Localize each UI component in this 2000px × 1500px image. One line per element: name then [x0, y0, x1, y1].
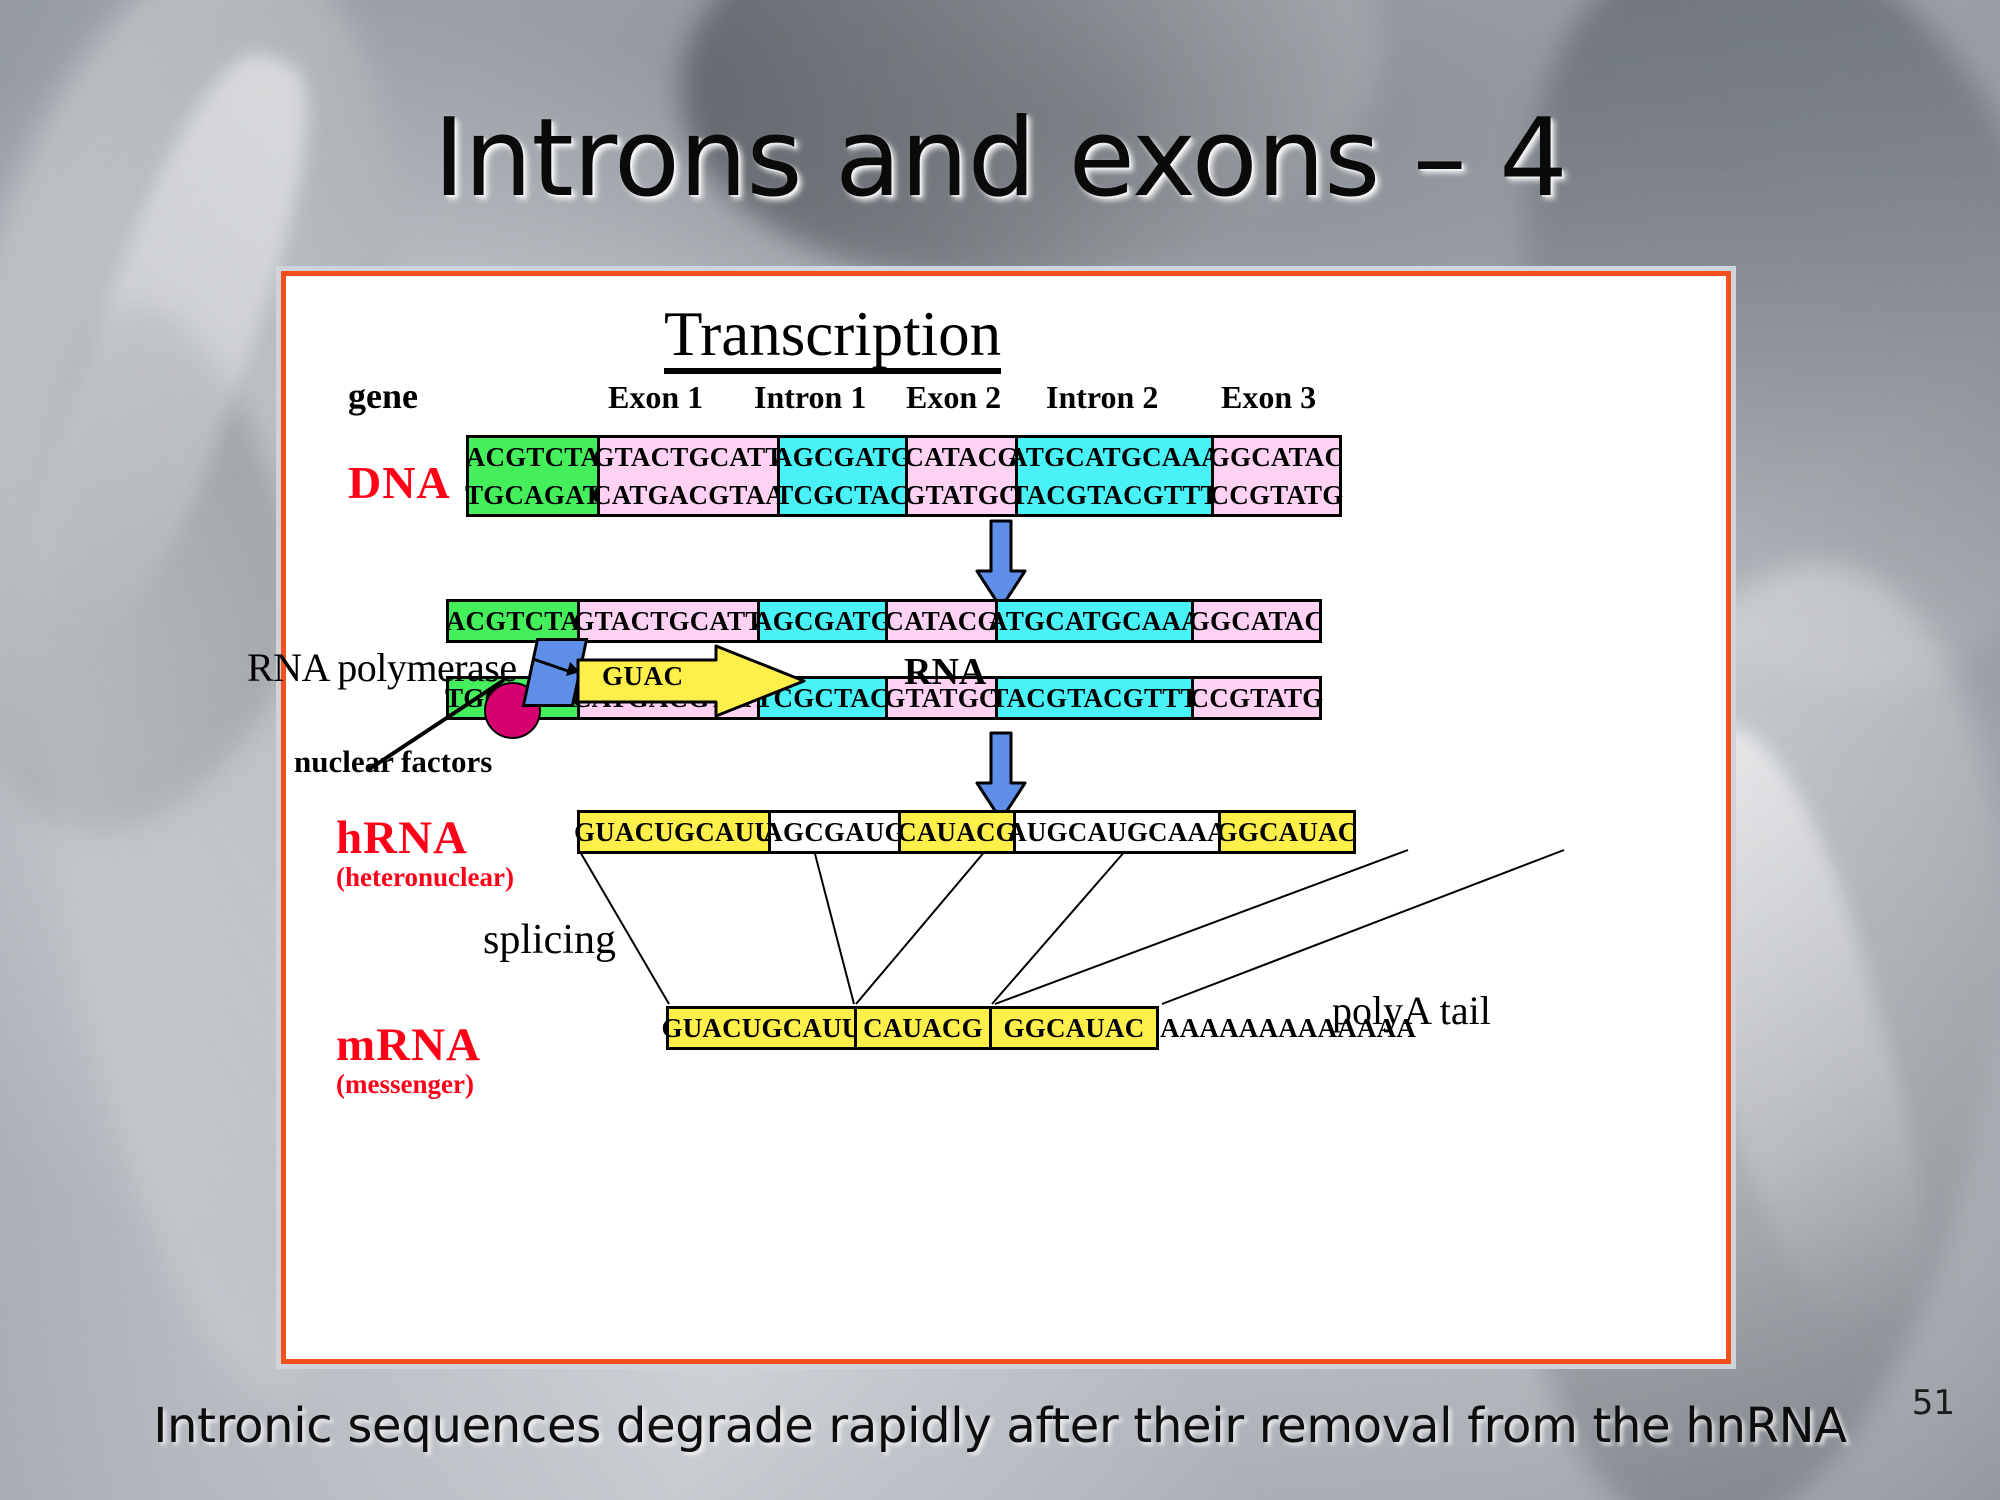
dna-bottom-segment: CATGACGTAA — [597, 476, 777, 514]
hrna-strand: GUACUGCAUU AGCGAUG CAUACG AUGCAUGCAAA GG… — [577, 810, 1356, 854]
dna-top-strand-transcribing: ACGTCTA GTACTGCATT AGCGATG CATACG ATGCAT… — [446, 599, 1322, 643]
dna-bottom-segment: TACGTACGTTT — [995, 679, 1191, 717]
dna-bottom-strand: TGCAGAT CATGACGTAA TCGCTAC GTATGC TACGTA… — [466, 476, 1342, 517]
dna-top-segment: ATGCATGCAAA — [1015, 438, 1211, 476]
hrna-segment: AUGCAUGCAAA — [1013, 813, 1218, 851]
region-header-exon-3: Exon 3 — [1221, 379, 1316, 416]
dna-bottom-segment: TGCAGAT — [469, 476, 597, 514]
dna-bottom-segment: CCGTATG — [1191, 679, 1319, 717]
polya-tail-label: polyA tail — [1332, 987, 1491, 1034]
dna-top-strand: ACGTCTA GTACTGCATT AGCGATG CATACG ATGCAT… — [466, 435, 1342, 479]
dna-bottom-segment: CCGTATG — [1211, 476, 1339, 514]
region-header-intron-1: Intron 1 — [754, 379, 866, 416]
dna-top-segment: CATACG — [905, 438, 1015, 476]
dna-bottom-segment: TACGTACGTTT — [1015, 476, 1211, 514]
mrna-segment: GUACUGCAUU — [669, 1009, 854, 1047]
dna-top-segment: ACGTCTA — [449, 602, 577, 640]
dna-label: DNA — [348, 456, 451, 509]
hrna-label: hRNA — [336, 811, 468, 865]
transcription-diagram: Transcription gene Exon 1 Intron 1 Exon … — [286, 276, 1726, 1359]
region-header-exon-2: Exon 2 — [906, 379, 1001, 416]
figure-heading: Transcription — [664, 303, 1001, 374]
mrna-segment: CAUACG — [854, 1009, 989, 1047]
dna-top-segment: GGCATAC — [1211, 438, 1339, 476]
dna-top-segment: ACGTCTA — [469, 438, 597, 476]
dna-top-segment: ATGCATGCAAA — [995, 602, 1191, 640]
polymerase-pointer-icon — [532, 658, 580, 678]
hrna-segment: AGCGAUG — [768, 813, 898, 851]
gene-label: gene — [348, 375, 418, 417]
splicing-label: splicing — [483, 916, 616, 964]
rna-label: RNA — [904, 650, 986, 694]
region-header-exon-1: Exon 1 — [608, 379, 703, 416]
mrna-label: mRNA — [336, 1018, 481, 1072]
dna-top-segment: GGCATAC — [1191, 602, 1319, 640]
dna-top-segment: GTACTGCATT — [577, 602, 757, 640]
slide-caption: Intronic sequences degrade rapidly after… — [0, 1398, 2000, 1454]
hrna-segment: GGCAUAC — [1218, 813, 1353, 851]
nuclear-factors-label: nuclear factors — [294, 744, 492, 780]
dna-top-segment: AGCGATG — [757, 602, 885, 640]
mrna-segment: GGCAUAC — [989, 1009, 1156, 1047]
dna-bottom-segment: TCGCTAC — [777, 476, 905, 514]
dna-bottom-segment: GTATGC — [905, 476, 1015, 514]
region-header-intron-2: Intron 2 — [1046, 379, 1158, 416]
hrna-segment: GUACUGCAUU — [580, 813, 768, 851]
dna-top-segment: AGCGATG — [777, 438, 905, 476]
nascent-rna-sequence: GUAC — [602, 661, 684, 692]
dna-top-segment: CATACG — [885, 602, 995, 640]
slide-page-number: 51 — [1912, 1383, 1955, 1423]
hrna-segment: CAUACG — [898, 813, 1013, 851]
slide-title: Introns and exons – 4 — [0, 102, 2000, 215]
mrna-sublabel: (messenger) — [336, 1069, 474, 1100]
mrna-strand: GUACUGCAUU CAUACG GGCAUAC — [666, 1006, 1159, 1050]
figure-panel: Transcription gene Exon 1 Intron 1 Exon … — [281, 271, 1731, 1364]
dna-top-segment: GTACTGCATT — [597, 438, 777, 476]
down-arrow-icon — [974, 519, 1028, 611]
hrna-sublabel: (heteronuclear) — [336, 862, 514, 893]
